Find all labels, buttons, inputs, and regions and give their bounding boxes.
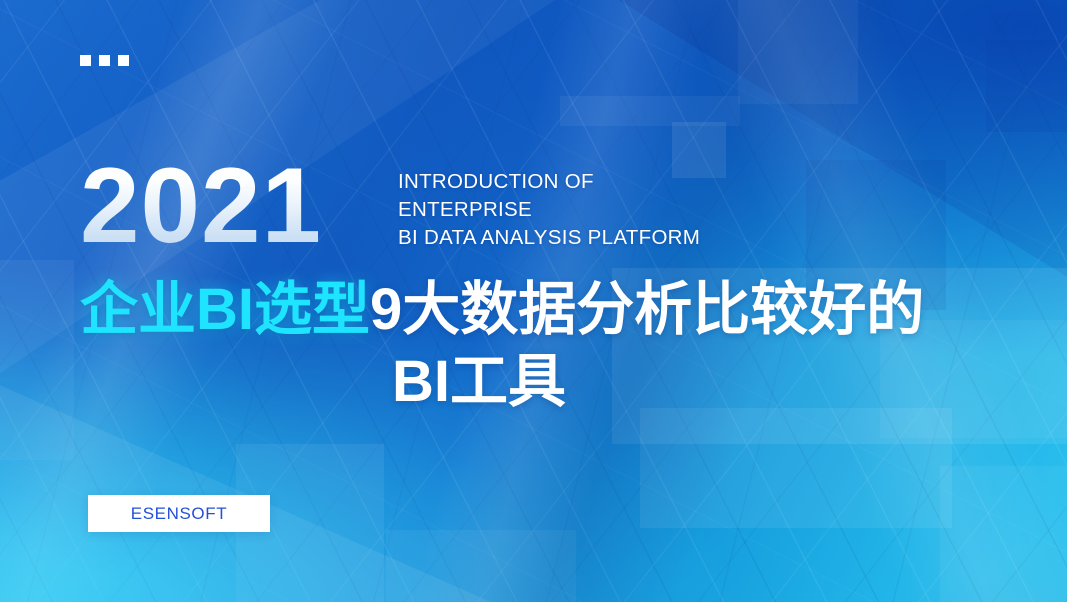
english-subtitle-line-1: INTRODUCTION OF bbox=[398, 168, 700, 196]
square-dot-icon bbox=[118, 55, 129, 66]
brand-badge[interactable]: ESENSOFT bbox=[88, 495, 270, 532]
english-subtitle: INTRODUCTION OF ENTERPRISE BI DATA ANALY… bbox=[398, 168, 700, 252]
decorative-dots bbox=[80, 55, 129, 66]
page-title: 企业BI选型9大数据分析比较好的 BI工具 bbox=[80, 274, 1040, 418]
headline-accent-text: 企业BI选型 bbox=[80, 277, 370, 342]
slide-content: 2021 INTRODUCTION OF ENTERPRISE BI DATA … bbox=[0, 0, 1067, 602]
brand-badge-label: ESENSOFT bbox=[131, 504, 227, 524]
square-dot-icon bbox=[99, 55, 110, 66]
headline-line-2: BI工具 bbox=[80, 346, 1040, 418]
title-slide: 2021 INTRODUCTION OF ENTERPRISE BI DATA … bbox=[0, 0, 1067, 602]
square-dot-icon bbox=[80, 55, 91, 66]
year-label: 2021 bbox=[80, 152, 322, 259]
english-subtitle-line-2: ENTERPRISE bbox=[398, 196, 700, 224]
english-subtitle-line-3: BI DATA ANALYSIS PLATFORM bbox=[398, 224, 700, 252]
headline-line-1-rest: 9大数据分析比较好的 bbox=[370, 277, 924, 342]
